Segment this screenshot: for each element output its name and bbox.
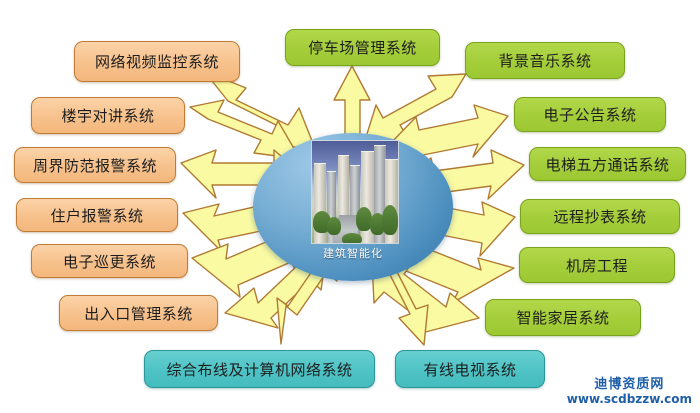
node-household-alarm[interactable]: 住户报警系统 (16, 198, 178, 232)
node-smart-home[interactable]: 智能家居系统 (485, 299, 641, 336)
node-electronic-patrol[interactable]: 电子巡更系统 (31, 244, 188, 278)
node-perimeter-alarm[interactable]: 周界防范报警系统 (14, 147, 176, 183)
building-photo (311, 140, 399, 244)
diagram-canvas: 建筑智能化 网络视频监控系统 楼宇对讲系统 周界防范报警系统 住户报警系统 电子… (0, 0, 700, 413)
node-label: 电子公告系统 (543, 104, 636, 125)
node-remote-meter-reading[interactable]: 远程抄表系统 (520, 199, 680, 234)
node-label: 有线电视系统 (423, 359, 516, 380)
node-label: 电梯五方通话系统 (545, 154, 669, 175)
node-electronic-bulletin[interactable]: 电子公告系统 (514, 97, 666, 132)
watermark-url: www.scdbzzw.com (567, 393, 692, 407)
node-background-music[interactable]: 背景音乐系统 (465, 42, 625, 79)
center-hub-label: 建筑智能化 (253, 245, 453, 261)
watermark: 迪博资质网 www.scdbzzw.com (567, 378, 692, 407)
node-entrance-exit-management[interactable]: 出入口管理系统 (59, 295, 218, 331)
node-label: 电子巡更系统 (63, 251, 156, 272)
node-label: 出入口管理系统 (84, 303, 193, 324)
node-elevator-five-party-intercom[interactable]: 电梯五方通话系统 (529, 147, 686, 181)
node-label: 停车场管理系统 (308, 37, 417, 58)
node-structured-cabling-network[interactable]: 综合布线及计算机网络系统 (144, 350, 375, 388)
node-label: 楼宇对讲系统 (61, 105, 154, 126)
node-label: 背景音乐系统 (498, 50, 591, 71)
node-parking-management[interactable]: 停车场管理系统 (285, 29, 440, 66)
node-label: 机房工程 (566, 255, 628, 276)
node-machine-room-engineering[interactable]: 机房工程 (519, 247, 675, 283)
node-label: 远程抄表系统 (553, 206, 646, 227)
node-network-video-surveillance[interactable]: 网络视频监控系统 (74, 41, 240, 82)
node-label: 周界防范报警系统 (33, 155, 157, 176)
node-label: 网络视频监控系统 (95, 51, 219, 72)
node-label: 住户报警系统 (50, 205, 143, 226)
node-cable-tv[interactable]: 有线电视系统 (395, 350, 545, 388)
watermark-name: 迪博资质网 (567, 378, 692, 393)
node-building-intercom[interactable]: 楼宇对讲系统 (31, 97, 185, 134)
node-label: 综合布线及计算机网络系统 (166, 359, 352, 380)
node-label: 智能家居系统 (516, 307, 609, 328)
center-hub: 建筑智能化 (253, 133, 453, 281)
